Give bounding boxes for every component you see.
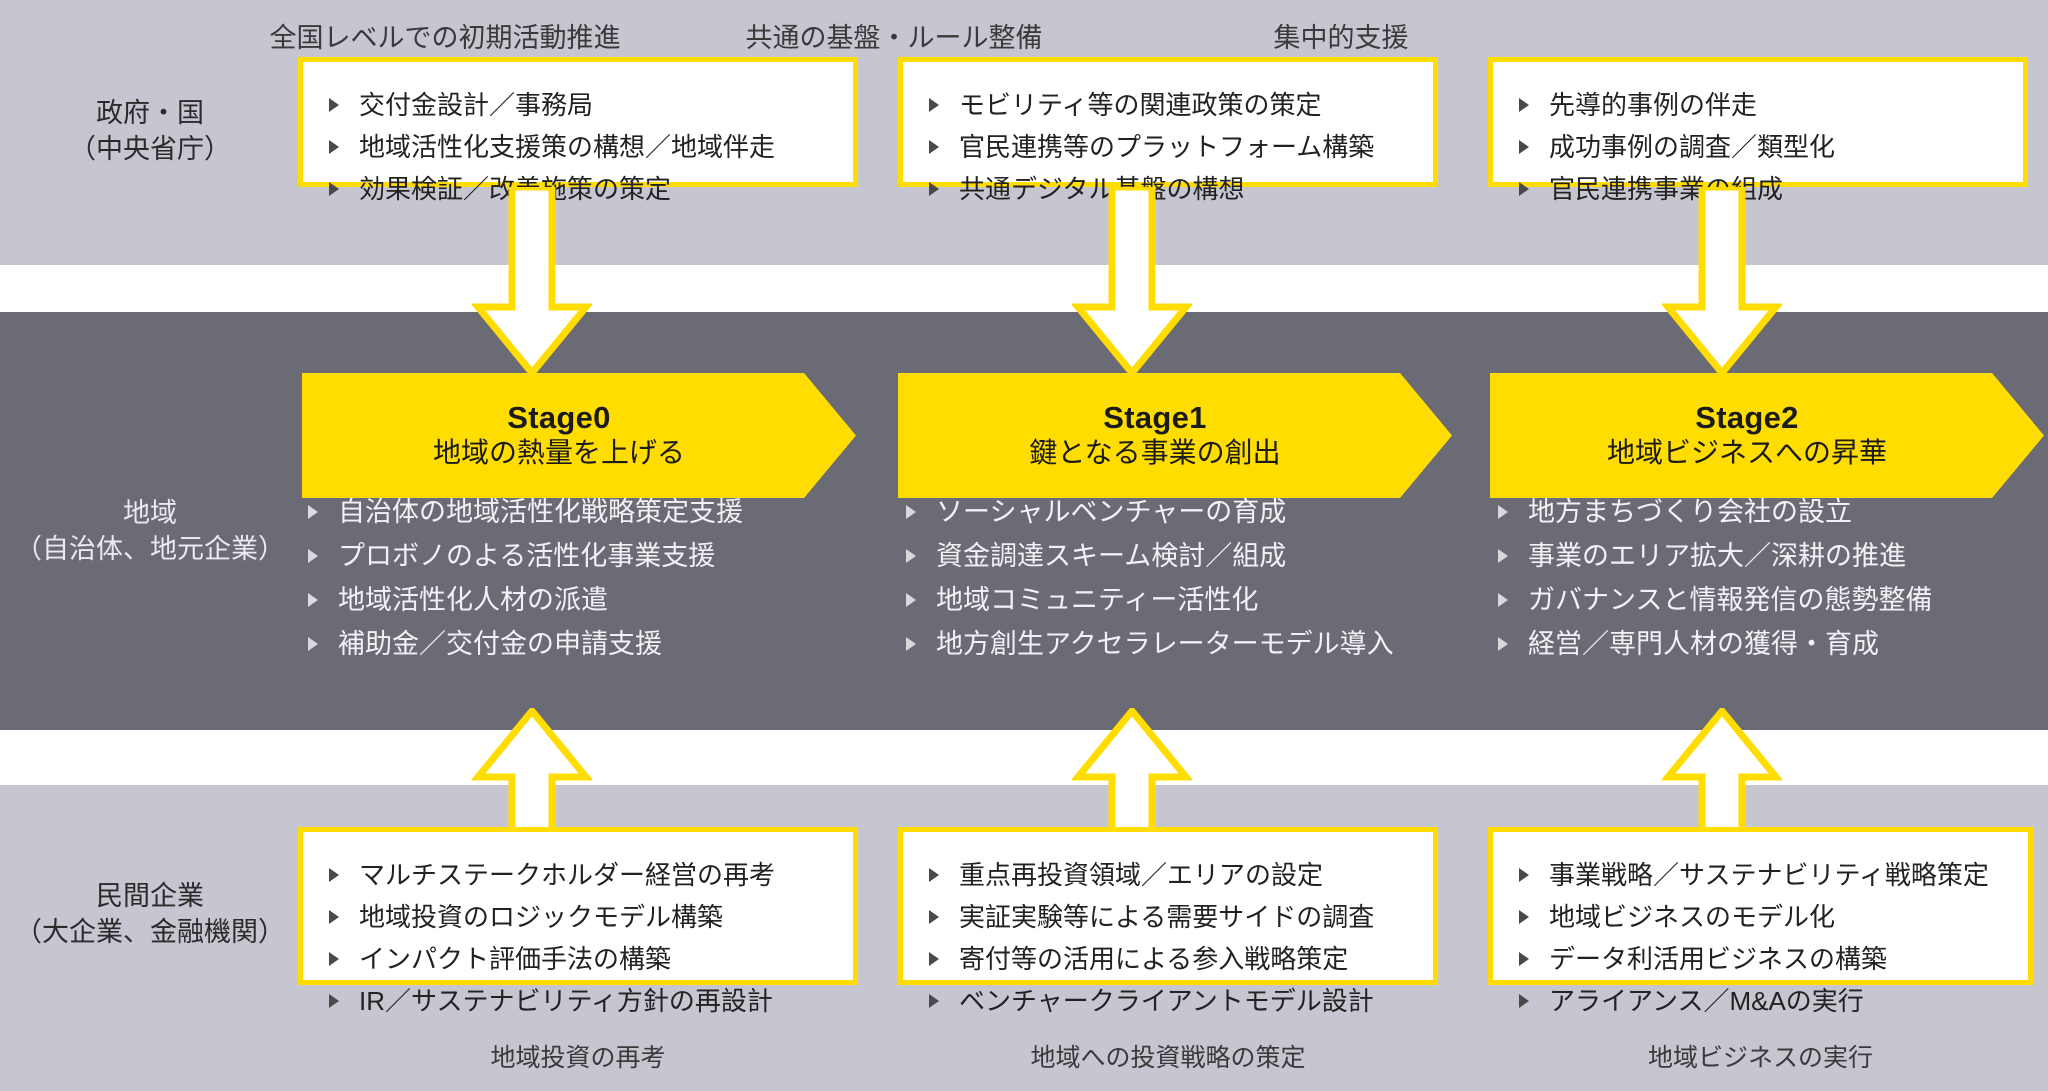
triangle-right-icon bbox=[308, 505, 318, 519]
stage-subtitle-2: 地域ビジネスへの昇華 bbox=[1607, 435, 1887, 470]
list-item: 事業戦略／サステナビリティ戦略策定 bbox=[1511, 854, 2010, 896]
row-label-local-line1: 地域 bbox=[0, 495, 300, 531]
triangle-right-icon bbox=[929, 140, 939, 154]
arrow-down-2 bbox=[1662, 187, 1782, 377]
list-item-label: IR／サステナビリティ方針の再設計 bbox=[359, 986, 773, 1016]
triangle-right-icon bbox=[1519, 868, 1529, 882]
triangle-right-icon bbox=[329, 952, 339, 966]
triangle-right-icon bbox=[329, 994, 339, 1008]
triangle-right-icon bbox=[929, 994, 939, 1008]
list-item-label: 自治体の地域活性化戦略策定支援 bbox=[338, 497, 743, 527]
private-list-1: 重点再投資領域／エリアの設定 実証実験等による需要サイドの調査 寄付等の活用によ… bbox=[921, 854, 1415, 1022]
private-card-0: マルチステークホルダー経営の再考 地域投資のロジックモデル構築 インパクト評価手… bbox=[298, 827, 858, 985]
list-item: 地域活性化支援策の構想／地域伴走 bbox=[321, 126, 835, 168]
stage-chevron-0: Stage0 地域の熱量を上げる bbox=[302, 373, 856, 498]
list-item-label: データ利活用ビジネスの構築 bbox=[1549, 944, 1887, 974]
triangle-right-icon bbox=[308, 637, 318, 651]
list-item-label: 実証実験等による需要サイドの調査 bbox=[959, 902, 1374, 932]
list-item-label: アライアンス／M&Aの実行 bbox=[1549, 986, 1864, 1016]
stage-name-2: Stage2 bbox=[1695, 401, 1798, 436]
arrow-down-icon bbox=[472, 187, 592, 377]
list-item: 寄付等の活用による参入戦略策定 bbox=[921, 938, 1415, 980]
triangle-right-icon bbox=[906, 549, 916, 563]
triangle-right-icon bbox=[1519, 994, 1529, 1008]
government-card-2: 先導的事例の伴走 成功事例の調査／類型化 官民連携事業の組成 bbox=[1488, 57, 2028, 187]
stage-chevron-1: Stage1 鍵となる事業の創出 bbox=[898, 373, 1452, 498]
list-item-label: 地域コミュニティー活性化 bbox=[936, 585, 1258, 615]
row-label-local-line2: （自治体、地元企業） bbox=[0, 531, 300, 567]
column-caption-1: 共通の基盤・ルール整備 bbox=[684, 16, 1104, 55]
list-item-label: 地方まちづくり会社の設立 bbox=[1528, 497, 1852, 527]
list-item-label: 地域活性化人材の派遣 bbox=[338, 585, 608, 615]
triangle-right-icon bbox=[329, 868, 339, 882]
triangle-right-icon bbox=[1519, 910, 1529, 924]
list-item: 実証実験等による需要サイドの調査 bbox=[921, 896, 1415, 938]
row-label-private-line2: （大企業、金融機関） bbox=[0, 914, 300, 950]
diagram-canvas: 全国レベルでの初期活動推進 共通の基盤・ルール整備 集中的支援 政府・国 （中央… bbox=[0, 0, 2048, 1091]
triangle-right-icon bbox=[308, 593, 318, 607]
column-footer-0: 地域投資の再考 bbox=[298, 1038, 858, 1074]
triangle-right-icon bbox=[1519, 98, 1529, 112]
list-item-label: ガバナンスと情報発信の態勢整備 bbox=[1528, 585, 1932, 615]
list-item: 地方創生アクセラレーターモデル導入 bbox=[898, 622, 1498, 666]
stage-subtitle-0: 地域の熱量を上げる bbox=[433, 435, 685, 470]
list-item: IR／サステナビリティ方針の再設計 bbox=[321, 980, 835, 1022]
list-item-label: 地域活性化支援策の構想／地域伴走 bbox=[359, 132, 775, 162]
triangle-right-icon bbox=[906, 593, 916, 607]
list-item-label: モビリティ等の関連政策の策定 bbox=[959, 90, 1321, 120]
arrow-up-icon bbox=[472, 708, 592, 834]
arrow-down-icon bbox=[1072, 187, 1192, 377]
row-label-private: 民間企業 （大企業、金融機関） bbox=[0, 878, 300, 951]
arrow-up-2 bbox=[1662, 708, 1782, 834]
triangle-right-icon bbox=[929, 98, 939, 112]
list-item: インパクト評価手法の構築 bbox=[321, 938, 835, 980]
list-item: 重点再投資領域／エリアの設定 bbox=[921, 854, 1415, 896]
list-item: データ利活用ビジネスの構築 bbox=[1511, 938, 2010, 980]
list-item: 地域ビジネスのモデル化 bbox=[1511, 896, 2010, 938]
triangle-right-icon bbox=[1519, 952, 1529, 966]
triangle-right-icon bbox=[329, 140, 339, 154]
list-item: プロボノのよる活性化事業支援 bbox=[300, 534, 900, 578]
list-item: ソーシャルベンチャーの育成 bbox=[898, 490, 1498, 534]
list-item: アライアンス／M&Aの実行 bbox=[1511, 980, 2010, 1022]
local-list-wrap-2: 地方まちづくり会社の設立 事業のエリア拡大／深耕の推進 ガバナンスと情報発信の態… bbox=[1490, 490, 2048, 666]
list-item-label: 成功事例の調査／類型化 bbox=[1549, 132, 1835, 162]
column-footer-2: 地域ビジネスの実行 bbox=[1488, 1038, 2033, 1074]
list-item-label: ベンチャークライアントモデル設計 bbox=[959, 986, 1374, 1016]
list-item-label: 事業戦略／サステナビリティ戦略策定 bbox=[1549, 860, 1989, 890]
stage-name-0: Stage0 bbox=[507, 401, 610, 436]
triangle-right-icon bbox=[1498, 637, 1508, 651]
triangle-right-icon bbox=[1498, 505, 1508, 519]
list-item: 地域投資のロジックモデル構築 bbox=[321, 896, 835, 938]
row-label-government: 政府・国 （中央省庁） bbox=[0, 95, 300, 168]
list-item: 先導的事例の伴走 bbox=[1511, 84, 2005, 126]
government-card-0: 交付金設計／事務局 地域活性化支援策の構想／地域伴走 効果検証／改善施策の策定 bbox=[298, 57, 858, 187]
triangle-right-icon bbox=[929, 868, 939, 882]
triangle-right-icon bbox=[929, 952, 939, 966]
list-item: 資金調達スキーム検討／組成 bbox=[898, 534, 1498, 578]
arrow-up-icon bbox=[1662, 708, 1782, 834]
list-item-label: 官民連携等のプラットフォーム構築 bbox=[959, 132, 1374, 162]
list-item-label: マルチステークホルダー経営の再考 bbox=[359, 860, 775, 890]
list-item-label: プロボノのよる活性化事業支援 bbox=[338, 541, 715, 571]
list-item-label: 事業のエリア拡大／深耕の推進 bbox=[1528, 541, 1906, 571]
triangle-right-icon bbox=[1498, 549, 1508, 563]
list-item-label: 地域投資のロジックモデル構築 bbox=[359, 902, 723, 932]
arrow-up-1 bbox=[1072, 708, 1192, 834]
list-item-label: 地方創生アクセラレーターモデル導入 bbox=[936, 629, 1394, 659]
list-item: モビリティ等の関連政策の策定 bbox=[921, 84, 1415, 126]
triangle-right-icon bbox=[308, 549, 318, 563]
list-item-label: 交付金設計／事務局 bbox=[359, 90, 593, 120]
list-item-label: ソーシャルベンチャーの育成 bbox=[936, 497, 1286, 527]
arrow-up-0 bbox=[472, 708, 592, 834]
list-item: ガバナンスと情報発信の態勢整備 bbox=[1490, 578, 2048, 622]
list-item-label: 重点再投資領域／エリアの設定 bbox=[959, 860, 1323, 890]
private-list-0: マルチステークホルダー経営の再考 地域投資のロジックモデル構築 インパクト評価手… bbox=[321, 854, 835, 1022]
stage-subtitle-1: 鍵となる事業の創出 bbox=[1029, 435, 1280, 470]
arrow-down-1 bbox=[1072, 187, 1192, 377]
triangle-right-icon bbox=[906, 637, 916, 651]
stage-chevron-2: Stage2 地域ビジネスへの昇華 bbox=[1490, 373, 2044, 498]
arrow-down-0 bbox=[472, 187, 592, 377]
triangle-right-icon bbox=[1519, 140, 1529, 154]
list-item: 自治体の地域活性化戦略策定支援 bbox=[300, 490, 900, 534]
triangle-right-icon bbox=[929, 182, 939, 196]
list-item-label: インパクト評価手法の構築 bbox=[359, 944, 671, 974]
triangle-right-icon bbox=[906, 505, 916, 519]
column-footer-1: 地域への投資戦略の策定 bbox=[898, 1038, 1438, 1074]
local-list-wrap-1: ソーシャルベンチャーの育成 資金調達スキーム検討／組成 地域コミュニティー活性化… bbox=[898, 490, 1498, 666]
list-item: 地域活性化人材の派遣 bbox=[300, 578, 900, 622]
row-label-government-line1: 政府・国 bbox=[0, 95, 300, 131]
list-item: ベンチャークライアントモデル設計 bbox=[921, 980, 1415, 1022]
arrow-down-icon bbox=[1662, 187, 1782, 377]
triangle-right-icon bbox=[329, 910, 339, 924]
list-item: 官民連携等のプラットフォーム構築 bbox=[921, 126, 1415, 168]
stage-name-1: Stage1 bbox=[1103, 401, 1206, 436]
list-item: 成功事例の調査／類型化 bbox=[1511, 126, 2005, 168]
triangle-right-icon bbox=[329, 98, 339, 112]
local-list-0: 自治体の地域活性化戦略策定支援 プロボノのよる活性化事業支援 地域活性化人材の派… bbox=[300, 490, 900, 666]
private-card-1: 重点再投資領域／エリアの設定 実証実験等による需要サイドの調査 寄付等の活用によ… bbox=[898, 827, 1438, 985]
list-item: 地域コミュニティー活性化 bbox=[898, 578, 1498, 622]
list-item-label: 資金調達スキーム検討／組成 bbox=[936, 541, 1286, 571]
list-item: 地方まちづくり会社の設立 bbox=[1490, 490, 2048, 534]
list-item-label: 地域ビジネスのモデル化 bbox=[1549, 902, 1835, 932]
list-item: マルチステークホルダー経営の再考 bbox=[321, 854, 835, 896]
private-card-2: 事業戦略／サステナビリティ戦略策定 地域ビジネスのモデル化 データ利活用ビジネス… bbox=[1488, 827, 2033, 985]
list-item-label: 先導的事例の伴走 bbox=[1549, 90, 1757, 120]
list-item: 経営／専門人材の獲得・育成 bbox=[1490, 622, 2048, 666]
local-list-wrap-0: 自治体の地域活性化戦略策定支援 プロボノのよる活性化事業支援 地域活性化人材の派… bbox=[300, 490, 900, 666]
list-item-label: 経営／専門人材の獲得・育成 bbox=[1528, 629, 1879, 659]
list-item-label: 補助金／交付金の申請支援 bbox=[338, 629, 662, 659]
row-label-private-line1: 民間企業 bbox=[0, 878, 300, 914]
column-caption-2: 集中的支援 bbox=[1131, 16, 1551, 55]
arrow-up-icon bbox=[1072, 708, 1192, 834]
list-item-label: 寄付等の活用による参入戦略策定 bbox=[959, 944, 1348, 974]
local-list-2: 地方まちづくり会社の設立 事業のエリア拡大／深耕の推進 ガバナンスと情報発信の態… bbox=[1490, 490, 2048, 666]
private-list-2: 事業戦略／サステナビリティ戦略策定 地域ビジネスのモデル化 データ利活用ビジネス… bbox=[1511, 854, 2010, 1022]
triangle-right-icon bbox=[1519, 182, 1529, 196]
row-label-local: 地域 （自治体、地元企業） bbox=[0, 495, 300, 568]
list-item: 補助金／交付金の申請支援 bbox=[300, 622, 900, 666]
triangle-right-icon bbox=[1498, 593, 1508, 607]
list-item: 事業のエリア拡大／深耕の推進 bbox=[1490, 534, 2048, 578]
column-caption-0: 全国レベルでの初期活動推進 bbox=[232, 16, 658, 55]
list-item: 交付金設計／事務局 bbox=[321, 84, 835, 126]
row-label-government-line2: （中央省庁） bbox=[0, 131, 300, 167]
local-list-1: ソーシャルベンチャーの育成 資金調達スキーム検討／組成 地域コミュニティー活性化… bbox=[898, 490, 1498, 666]
triangle-right-icon bbox=[929, 910, 939, 924]
government-card-1: モビリティ等の関連政策の策定 官民連携等のプラットフォーム構築 共通デジタル基盤… bbox=[898, 57, 1438, 187]
triangle-right-icon bbox=[329, 182, 339, 196]
